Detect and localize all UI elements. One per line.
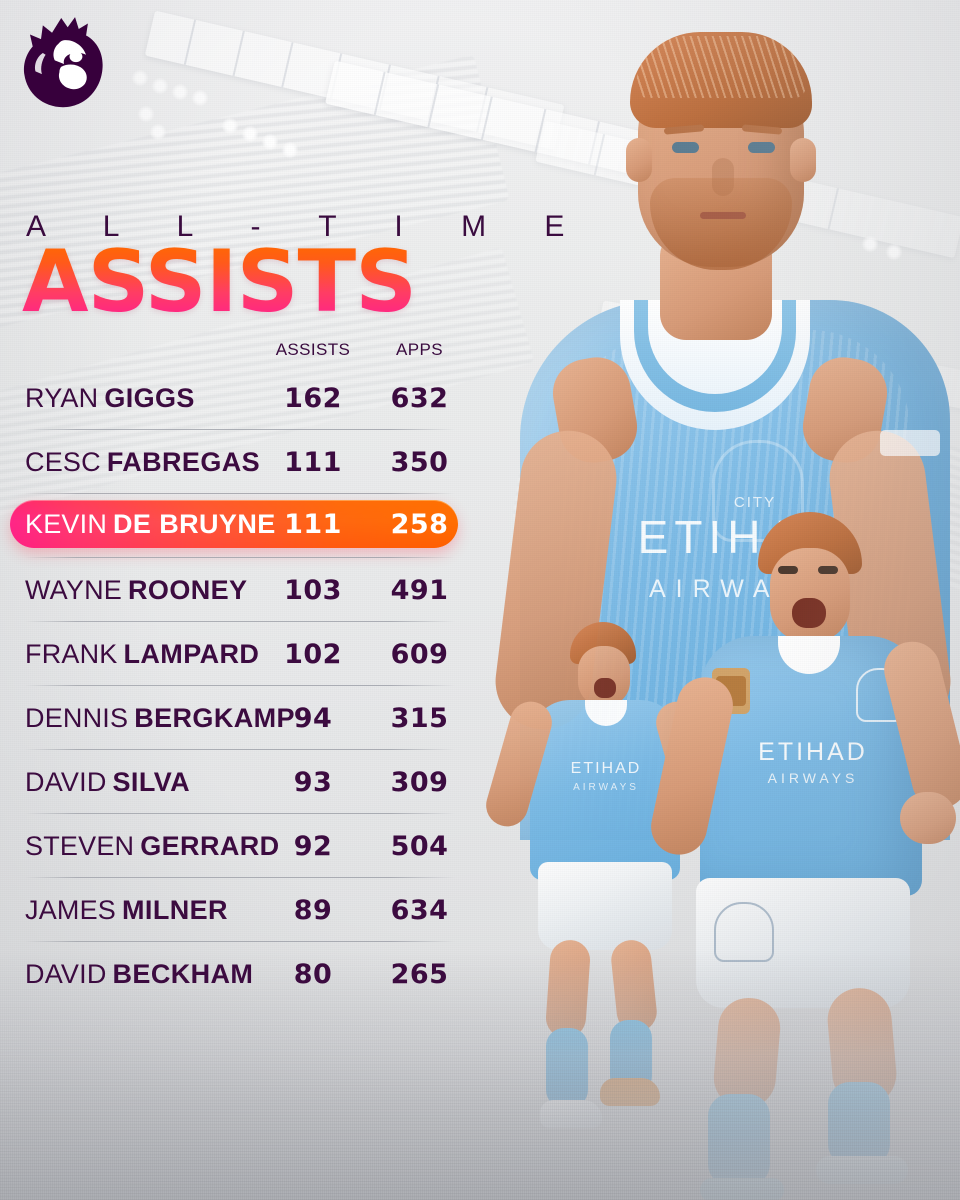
player-assists-value: 102 bbox=[258, 639, 368, 670]
table-row[interactable]: JAMESMILNER89634 bbox=[0, 878, 470, 942]
table-row[interactable]: RYANGIGGS162632 bbox=[0, 366, 470, 430]
table-row[interactable]: KEVINDE BRUYNE111258 bbox=[0, 494, 470, 558]
player-first-name: KEVIN bbox=[25, 509, 107, 539]
player-apps-value: 265 bbox=[372, 959, 467, 990]
player-apps-value: 258 bbox=[372, 509, 467, 540]
player-name: CESCFABREGAS bbox=[25, 447, 260, 478]
player-apps-value: 309 bbox=[372, 767, 467, 798]
player-first-name: DENNIS bbox=[25, 703, 128, 733]
table-row[interactable]: FRANKLAMPARD102609 bbox=[0, 622, 470, 686]
table-row[interactable]: WAYNEROONEY103491 bbox=[0, 558, 470, 622]
player-assists-value: 94 bbox=[258, 703, 368, 734]
player-first-name: CESC bbox=[25, 447, 101, 477]
table-row[interactable]: CESCFABREGAS111350 bbox=[0, 430, 470, 494]
player-first-name: FRANK bbox=[25, 639, 118, 669]
player-assists-value: 111 bbox=[258, 447, 368, 478]
player-assists-value: 111 bbox=[258, 509, 368, 540]
table-header-row: ASSISTS APPS bbox=[0, 340, 470, 366]
player-last-name: DE BRUYNE bbox=[113, 509, 276, 539]
player-last-name: GIGGS bbox=[104, 383, 195, 413]
player-assists-value: 93 bbox=[258, 767, 368, 798]
player-apps-value: 315 bbox=[372, 703, 467, 734]
player-assists-value: 89 bbox=[258, 895, 368, 926]
player-apps-value: 491 bbox=[372, 575, 467, 606]
column-header-apps: APPS bbox=[372, 340, 467, 360]
player-apps-value: 632 bbox=[372, 383, 467, 414]
player-name: JAMESMILNER bbox=[25, 895, 228, 926]
player-last-name: BECKHAM bbox=[113, 959, 254, 989]
column-header-assists: ASSISTS bbox=[258, 340, 368, 360]
page-title: ASSISTS bbox=[22, 242, 416, 323]
table-row[interactable]: DAVIDSILVA93309 bbox=[0, 750, 470, 814]
player-last-name: FABREGAS bbox=[107, 447, 260, 477]
table-row[interactable]: DENNISBERGKAMP94315 bbox=[0, 686, 470, 750]
player-last-name: MILNER bbox=[122, 895, 228, 925]
player-apps-value: 350 bbox=[372, 447, 467, 478]
player-name: STEVENGERRARD bbox=[25, 831, 280, 862]
player-first-name: STEVEN bbox=[25, 831, 134, 861]
player-assists-value: 162 bbox=[258, 383, 368, 414]
player-name: DENNISBERGKAMP bbox=[25, 703, 295, 734]
player-assists-value: 103 bbox=[258, 575, 368, 606]
player-first-name: DAVID bbox=[25, 959, 107, 989]
player-assists-value: 92 bbox=[258, 831, 368, 862]
player-name: FRANKLAMPARD bbox=[25, 639, 259, 670]
player-name: DAVIDSILVA bbox=[25, 767, 190, 798]
premier-league-lion-icon[interactable] bbox=[18, 14, 110, 114]
player-assists-value: 80 bbox=[258, 959, 368, 990]
player-name: KEVINDE BRUYNE bbox=[25, 509, 276, 540]
player-last-name: ROONEY bbox=[128, 575, 247, 605]
player-name: RYANGIGGS bbox=[25, 383, 195, 414]
assists-table: ASSISTS APPS RYANGIGGS162632CESCFABREGAS… bbox=[0, 340, 470, 1006]
player-first-name: WAYNE bbox=[25, 575, 122, 605]
player-apps-value: 609 bbox=[372, 639, 467, 670]
player-last-name: SILVA bbox=[113, 767, 191, 797]
player-first-name: JAMES bbox=[25, 895, 116, 925]
player-first-name: RYAN bbox=[25, 383, 98, 413]
player-first-name: DAVID bbox=[25, 767, 107, 797]
player-apps-value: 634 bbox=[372, 895, 467, 926]
player-name: DAVIDBECKHAM bbox=[25, 959, 253, 990]
player-last-name: LAMPARD bbox=[124, 639, 260, 669]
table-row[interactable]: DAVIDBECKHAM80265 bbox=[0, 942, 470, 1006]
table-row[interactable]: STEVENGERRARD92504 bbox=[0, 814, 470, 878]
poster-root: ETIHAD AIRWAYS CITY ETIHAD AIRWAYS bbox=[0, 0, 960, 1200]
player-apps-value: 504 bbox=[372, 831, 467, 862]
player-name: WAYNEROONEY bbox=[25, 575, 247, 606]
